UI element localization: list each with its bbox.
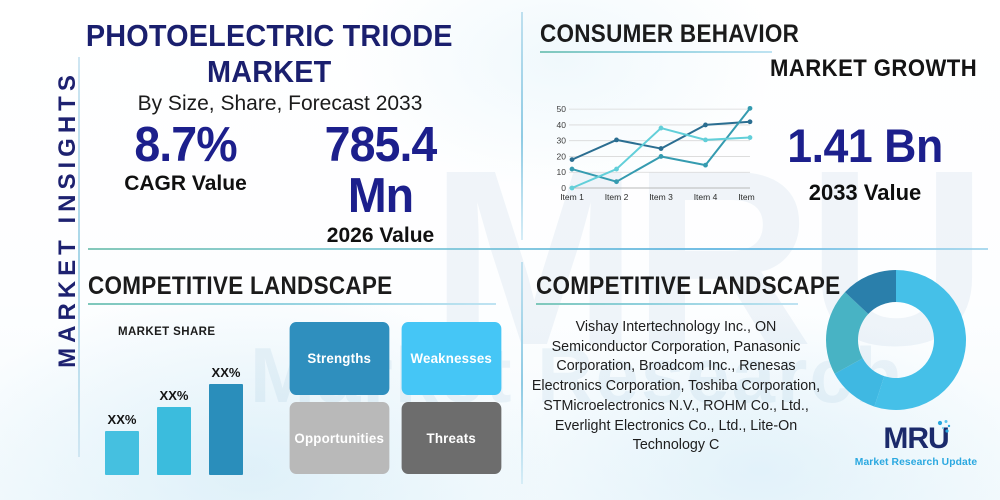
market-share-bar-label: XX% [212, 365, 241, 380]
kpi-cagr: 8.7% CAGR Value [88, 120, 283, 248]
side-label: MARKET INSIGHTS [54, 69, 82, 369]
market-share-bar-rect [157, 407, 191, 475]
market-share-bar-label: XX% [108, 412, 137, 427]
logo-tagline: Market Research Update [852, 457, 980, 468]
mru-logo: MRU Market Research Update [852, 424, 980, 468]
market-growth-heading: MARKET GROWTH [770, 55, 977, 83]
market-growth-value: 1.41 Bn [746, 118, 984, 173]
kpi-2026-label: 2026 Value [283, 224, 478, 248]
kpi-row: 8.7% CAGR Value 785.4 Mn 2026 Value [88, 120, 478, 248]
market-share-bar-rect [105, 431, 139, 475]
swot-threats-label: Threats [426, 430, 475, 446]
market-share-donut-chart [822, 266, 970, 414]
consumer-behavior-heading: CONSUMER BEHAVIOR [540, 20, 799, 49]
horizontal-divider [88, 248, 988, 250]
market-share-bar-rect [209, 384, 243, 475]
logo-mark-text: MRU [883, 424, 948, 454]
svg-text:30: 30 [557, 136, 567, 146]
consumer-behavior-underline [540, 51, 772, 53]
swot-grid: Strengths Weaknesses Opportunities Threa… [287, 322, 503, 474]
svg-text:Item 4: Item 4 [694, 192, 718, 202]
competitive-landscape-left-heading: COMPETITIVE LANDSCAPE [88, 272, 392, 301]
market-share-bar-chart: XX%XX%XX% [105, 345, 265, 475]
kpi-cagr-label: CAGR Value [88, 172, 283, 196]
swot-strengths[interactable]: Strengths [290, 322, 389, 395]
competitive-landscape-right-heading: COMPETITIVE LANDSCAPE [536, 272, 840, 301]
kpi-2026: 785.4 Mn 2026 Value [283, 120, 478, 248]
vertical-divider-bottom [521, 262, 523, 484]
page-title: PHOTOELECTRIC TRIODE MARKET [60, 18, 479, 90]
market-growth-label: 2033 Value [740, 180, 990, 206]
swot-weaknesses[interactable]: Weaknesses [401, 322, 500, 395]
kpi-2026-value: 785.4 Mn [288, 120, 473, 223]
swot-opportunities[interactable]: Opportunities [290, 402, 389, 475]
swot-weaknesses-label: Weaknesses [410, 350, 492, 366]
kpi-cagr-value: 8.7% [93, 120, 278, 171]
swot-threats[interactable]: Threats [401, 402, 500, 475]
page-subtitle: By Size, Share, Forecast 2033 [95, 92, 465, 116]
svg-text:Item 1: Item 1 [560, 192, 584, 202]
svg-text:40: 40 [557, 120, 567, 130]
competitive-landscape-left-underline [88, 303, 496, 305]
competitive-landscape-right-underline [536, 303, 798, 305]
swot-opportunities-label: Opportunities [294, 430, 384, 446]
svg-text:Item 3: Item 3 [649, 192, 673, 202]
consumer-behavior-line-chart: 01020304050Item 1Item 2Item 3Item 4Item … [546, 100, 756, 212]
svg-text:Item 2: Item 2 [605, 192, 629, 202]
vertical-divider-top [521, 12, 523, 240]
svg-text:50: 50 [557, 104, 567, 114]
swot-strengths-label: Strengths [307, 350, 371, 366]
market-share-bar: XX% [157, 407, 191, 475]
market-share-bar: XX% [105, 431, 139, 475]
logo-dots-icon [936, 419, 952, 439]
infographic-canvas: MRU Market Research MARKET INSIGHTS PHOT… [0, 0, 1000, 500]
market-share-chart-title: MARKET SHARE [118, 326, 215, 338]
svg-text:10: 10 [557, 167, 567, 177]
market-share-bar-label: XX% [160, 388, 189, 403]
market-share-bar: XX% [209, 384, 243, 475]
svg-text:Item 5: Item 5 [738, 192, 756, 202]
svg-text:20: 20 [557, 151, 567, 161]
company-list: Vishay Intertechnology Inc., ON Semicond… [528, 318, 824, 456]
